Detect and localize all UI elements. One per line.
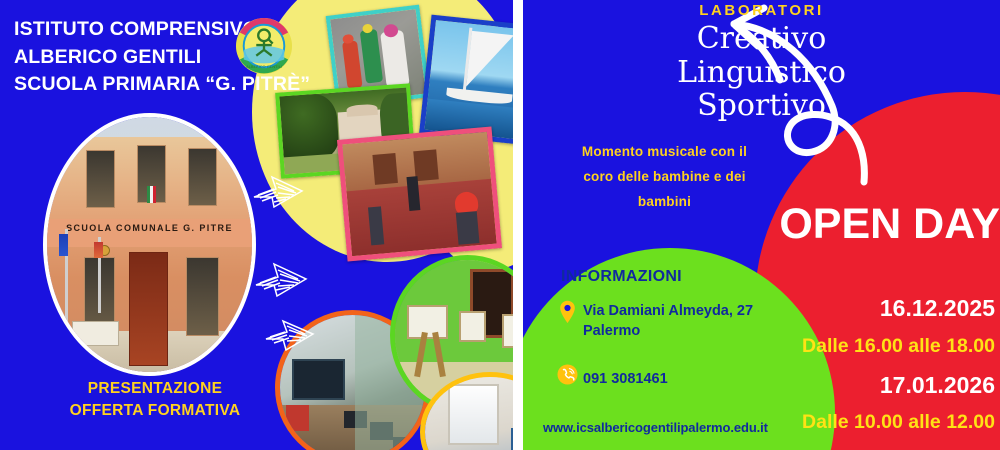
lab-item-linguistico: Linguistico (523, 56, 1000, 90)
open-day-date-1: 16.12.2025 (880, 295, 995, 322)
right-poster-panel: LABORATORI Creativo Linguistico Sportivo… (523, 0, 1000, 450)
svg-text:ALBERICO GENTILI: ALBERICO GENTILI (246, 64, 282, 69)
presentation-line-2: OFFERTA FORMATIVA (40, 400, 270, 422)
school-crest-logo: ALBERICO GENTILI (235, 17, 293, 75)
informazioni-heading: INFORMAZIONI (561, 268, 682, 286)
poster-root: ISTITUTO COMPRENSIVO ALBERICO GENTILI SC… (0, 0, 1000, 450)
presentation-footer: PRESENTAZIONE OFFERTA FORMATIVA (40, 378, 270, 422)
building-facade-sign: SCUOLA COMUNALE G. PITRE (59, 223, 239, 233)
photo-sailing (419, 15, 513, 146)
music-note-line-3: bambini (547, 190, 782, 215)
panel-divider (513, 0, 523, 450)
photo-classroom (420, 372, 513, 450)
school-title-line-3: SCUOLA PRIMARIA “G. PITRÈ” (14, 71, 304, 99)
music-note-line-1: Momento musicale con il (547, 140, 782, 165)
lab-item-sportivo: Sportivo (523, 89, 1000, 123)
info-website[interactable]: www.icsalbericogentilipalermo.edu.it (543, 420, 768, 435)
info-address-line-1: Via Damiani Almeyda, 27 (583, 302, 753, 322)
sketch-arrow-lower (252, 253, 314, 305)
laboratori-kicker: LABORATORI (523, 2, 1000, 19)
lab-list: Creativo Linguistico Sportivo (523, 22, 1000, 123)
photo-skating (337, 126, 502, 261)
presentation-line-1: PRESENTAZIONE (40, 378, 270, 400)
left-poster-panel: ISTITUTO COMPRENSIVO ALBERICO GENTILI SC… (0, 0, 513, 450)
open-day-time-1: Dalle 16.00 alle 18.00 (802, 335, 995, 358)
info-address: Via Damiani Almeyda, 27 Palermo (583, 302, 753, 341)
sketch-arrow-upper (250, 167, 310, 217)
music-note: Momento musicale con il coro delle bambi… (547, 140, 782, 215)
info-phone: 091 3081461 (583, 370, 668, 390)
open-day-time-2: Dalle 10.00 alle 12.00 (802, 411, 995, 434)
open-day-title: OPEN DAY (768, 200, 1000, 249)
photo-school-building: SCUOLA COMUNALE G. PITRE (43, 113, 256, 376)
lab-item-creativo: Creativo (523, 22, 1000, 56)
info-address-line-2: Palermo (583, 322, 753, 342)
location-pin-icon (559, 300, 576, 324)
open-day-date-2: 17.01.2026 (880, 372, 995, 399)
phone-icon (557, 364, 578, 385)
sketch-arrow-bottom (263, 312, 319, 358)
music-note-line-2: coro delle bambine e dei (547, 165, 782, 190)
